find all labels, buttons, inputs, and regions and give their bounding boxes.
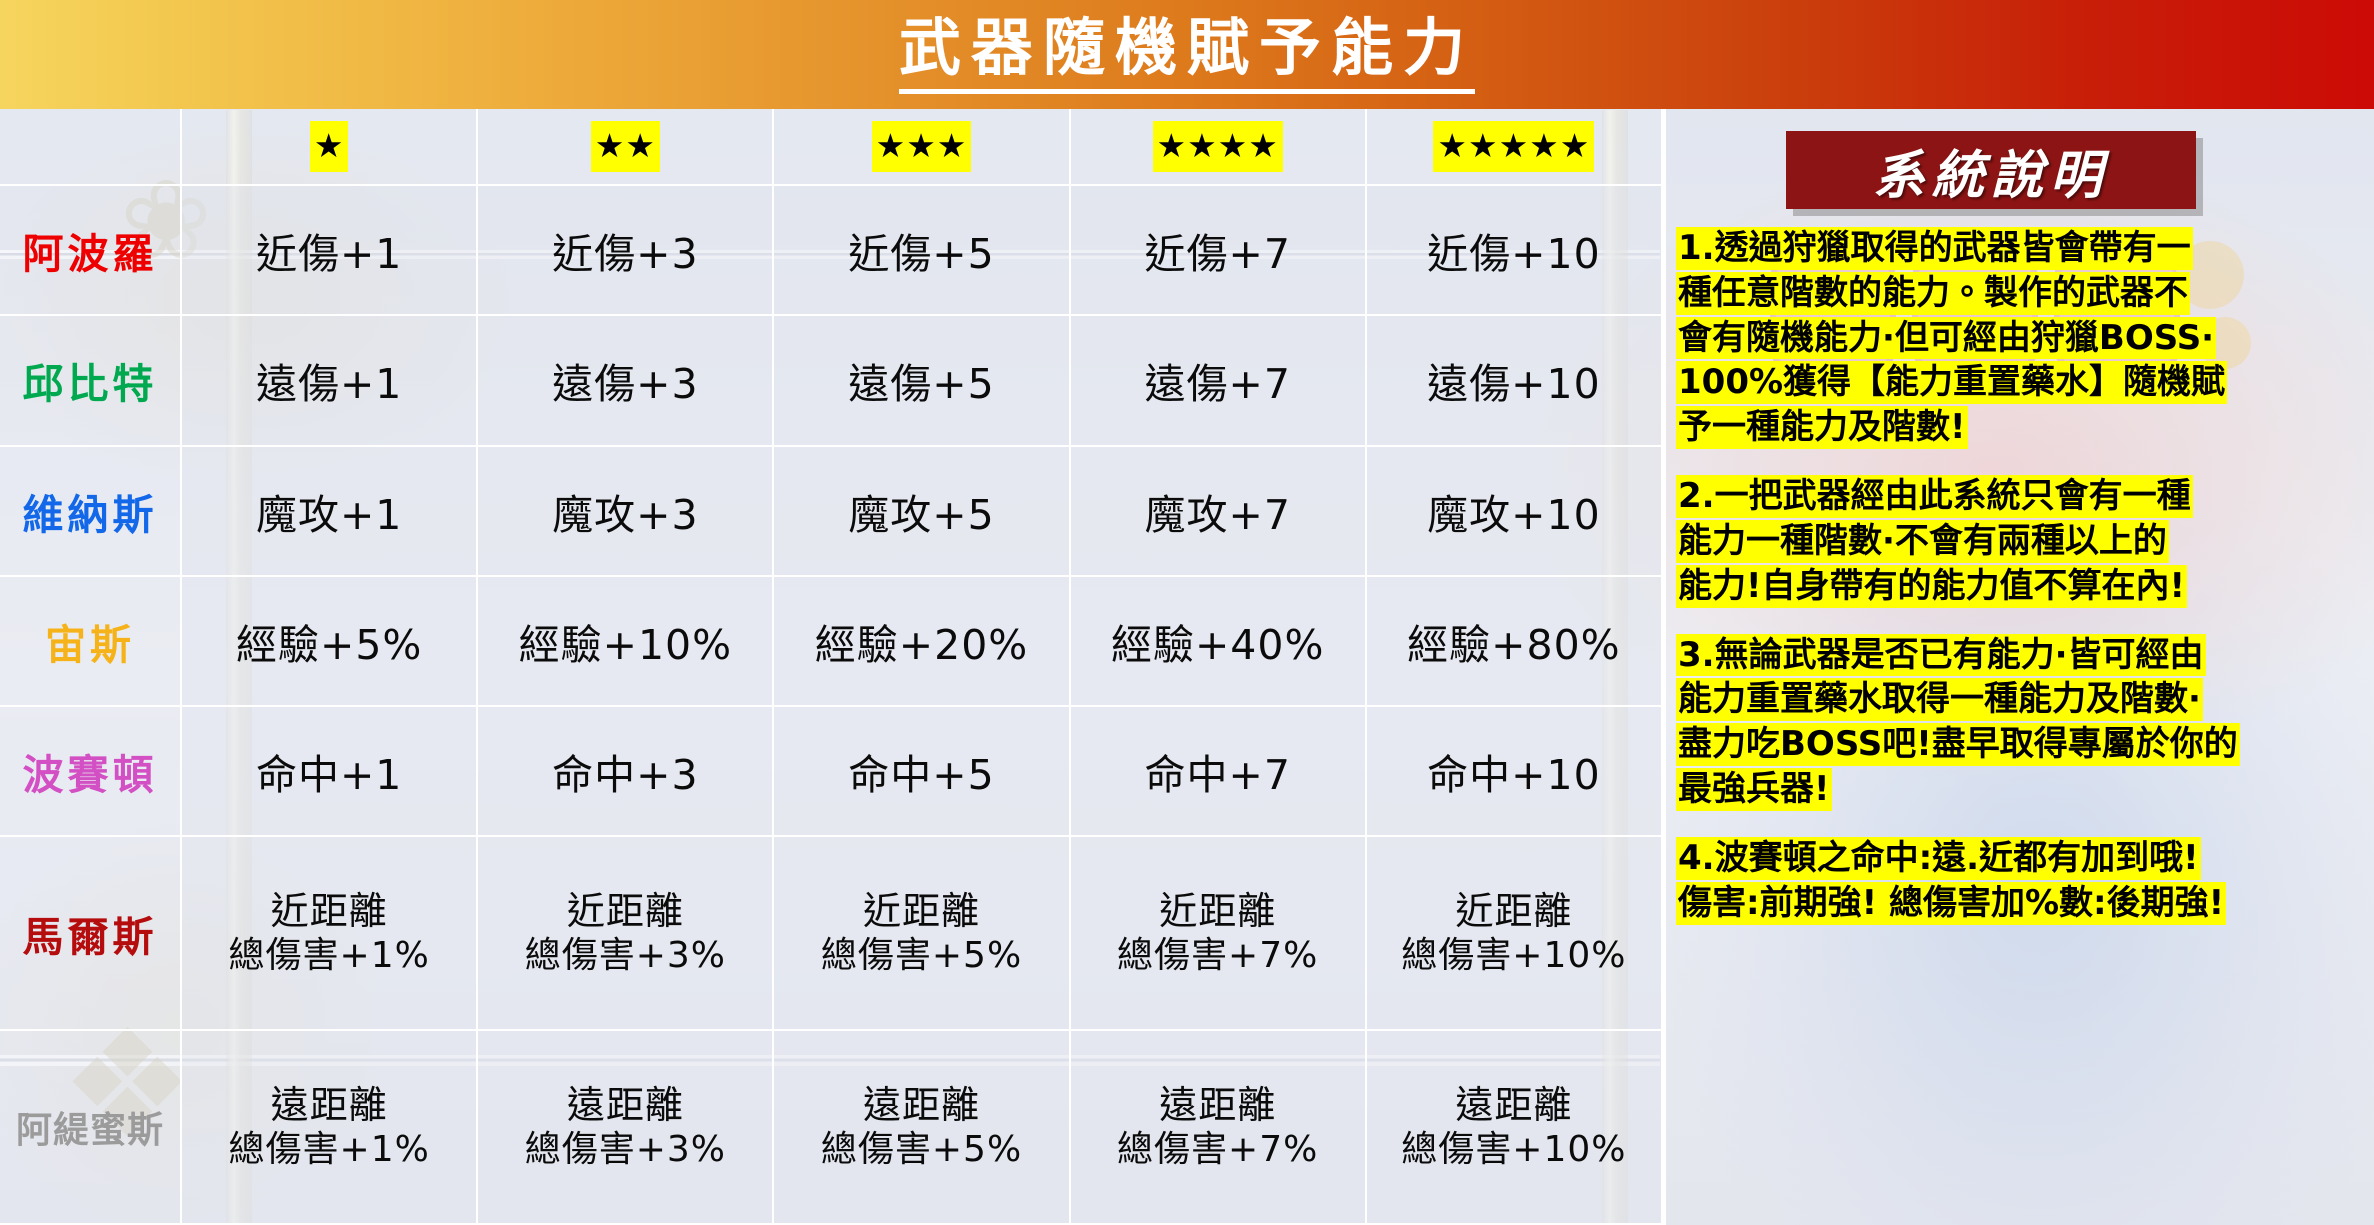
ability-table: ★ ★★ ★★★ ★★★★ ★★★★★	[0, 109, 1663, 1225]
row-label-artemis: 阿緹蜜斯	[0, 1030, 181, 1224]
cell-apollo-3star: 近傷+5	[773, 185, 1069, 315]
cell-venus-3star: 魔攻+5	[773, 446, 1069, 576]
star-rating-3: ★★★	[872, 121, 972, 172]
note-line: 能力一種階數·不會有兩種以上的	[1676, 520, 2169, 563]
page-title: 武器隨機賦予能力	[899, 15, 1475, 93]
row-label-apollo: 阿波羅	[0, 185, 181, 315]
cell-value-line2: 總傷害+10%	[1367, 934, 1661, 978]
note-line: 4.波賽頓之命中:遠.近都有加到哦!	[1676, 837, 2201, 880]
cell-artemis-3star: 遠距離總傷害+5%	[773, 1030, 1069, 1224]
cell-value-line2: 總傷害+7%	[1071, 1128, 1365, 1172]
cell-zeus-5star: 經驗+80%	[1366, 576, 1662, 706]
table-row: 波賽頓 命中+1 命中+3 命中+5 命中+7 命中+10	[0, 706, 1662, 836]
row-label-text: 維納斯	[23, 491, 158, 539]
note-item-2: 2.一把武器經由此系統只會有一種 能力一種階數·不會有兩種以上的 能力!自身帶有…	[1676, 475, 2368, 607]
cell-apollo-1star: 近傷+1	[181, 185, 477, 315]
row-label-text: 馬爾斯	[23, 913, 158, 961]
row-label-zeus: 宙斯	[0, 576, 181, 706]
cell-apollo-4star: 近傷+7	[1070, 185, 1366, 315]
cell-apollo-2star: 近傷+3	[477, 185, 773, 315]
cell-poseidon-4star: 命中+7	[1070, 706, 1366, 836]
cell-value: 經驗+40%	[1111, 621, 1324, 669]
cell-value: 遠傷+10	[1427, 360, 1601, 408]
column-header-3-star: ★★★	[773, 109, 1069, 185]
note-line: 2.一把武器經由此系統只會有一種	[1676, 475, 2193, 518]
cell-value: 近距離總傷害+3%	[478, 888, 772, 978]
cell-mars-2star: 近距離總傷害+3%	[477, 836, 773, 1030]
note-item-3: 3.無論武器是否已有能力·皆可經由 能力重置藥水取得一種能力及階數· 盡力吃BO…	[1676, 634, 2368, 811]
cell-value-line1: 遠距離	[1159, 1083, 1276, 1127]
table-header-row: ★ ★★ ★★★ ★★★★ ★★★★★	[0, 109, 1662, 185]
cell-value: 魔攻+3	[552, 491, 698, 539]
note-line: 會有隨機能力·但可經由狩獵BOSS·	[1676, 317, 2216, 360]
row-label-cupid: 邱比特	[0, 315, 181, 445]
cell-cupid-5star: 遠傷+10	[1366, 315, 1662, 445]
cell-mars-5star: 近距離總傷害+10%	[1366, 836, 1662, 1030]
cell-venus-1star: 魔攻+1	[181, 446, 477, 576]
table-row: 阿波羅 近傷+1 近傷+3 近傷+5 近傷+7 近傷+10	[0, 185, 1662, 315]
star-rating-2: ★★	[591, 121, 660, 172]
cell-value-line2: 總傷害+3%	[478, 934, 772, 978]
cell-mars-3star: 近距離總傷害+5%	[773, 836, 1069, 1030]
cell-value-line1: 近距離	[863, 889, 980, 933]
cell-value: 近距離總傷害+10%	[1367, 888, 1661, 978]
system-description-notes: 1.透過狩獵取得的武器皆會帶有一 種任意階數的能力。製作的武器不 會有隨機能力·…	[1676, 227, 2368, 927]
cell-value: 命中+1	[256, 751, 402, 799]
note-line: 3.無論武器是否已有能力·皆可經由	[1676, 634, 2206, 677]
cell-value: 近傷+5	[848, 230, 994, 278]
table-row: 阿緹蜜斯 遠距離總傷害+1% 遠距離總傷害+3% 遠距離總傷害+5% 遠距離總傷…	[0, 1030, 1662, 1224]
cell-value-line2: 總傷害+7%	[1071, 934, 1365, 978]
row-label-venus: 維納斯	[0, 446, 181, 576]
star-rating-4: ★★★★	[1153, 121, 1283, 172]
cell-poseidon-3star: 命中+5	[773, 706, 1069, 836]
cell-value: 命中+3	[552, 751, 698, 799]
star-rating-1: ★	[310, 121, 349, 172]
cell-mars-1star: 近距離總傷害+1%	[181, 836, 477, 1030]
column-header-5-star: ★★★★★	[1366, 109, 1662, 185]
page-root: ❖ ❀ 武器隨機賦予能力	[0, 0, 2374, 1225]
cell-value: 近距離總傷害+5%	[774, 888, 1068, 978]
cell-value: 遠距離總傷害+7%	[1071, 1082, 1365, 1172]
cell-value-line2: 總傷害+10%	[1367, 1128, 1661, 1172]
cell-value: 近傷+1	[256, 230, 402, 278]
row-label-text: 阿緹蜜斯	[16, 1110, 164, 1151]
cell-venus-4star: 魔攻+7	[1070, 446, 1366, 576]
note-item-1: 1.透過狩獵取得的武器皆會帶有一 種任意階數的能力。製作的武器不 會有隨機能力·…	[1676, 227, 2368, 449]
cell-artemis-1star: 遠距離總傷害+1%	[181, 1030, 477, 1224]
cell-value-line1: 遠距離	[271, 1083, 388, 1127]
row-label-poseidon: 波賽頓	[0, 706, 181, 836]
cell-value-line2: 總傷害+5%	[774, 934, 1068, 978]
cell-value: 命中+7	[1144, 751, 1290, 799]
cell-cupid-2star: 遠傷+3	[477, 315, 773, 445]
cell-value: 魔攻+5	[848, 491, 994, 539]
cell-zeus-2star: 經驗+10%	[477, 576, 773, 706]
note-line: 最強兵器!	[1676, 768, 1832, 811]
cell-value: 遠傷+5	[848, 360, 994, 408]
cell-venus-5star: 魔攻+10	[1366, 446, 1662, 576]
cell-value-line1: 近距離	[567, 889, 684, 933]
cell-value: 近傷+10	[1427, 230, 1601, 278]
cell-value-line2: 總傷害+5%	[774, 1128, 1068, 1172]
cell-value: 近傷+7	[1144, 230, 1290, 278]
cell-value: 魔攻+10	[1427, 491, 1601, 539]
cell-value: 近距離總傷害+7%	[1071, 888, 1365, 978]
cell-value-line1: 近距離	[1159, 889, 1276, 933]
cell-value: 遠距離總傷害+3%	[478, 1082, 772, 1172]
cell-value-line1: 遠距離	[863, 1083, 980, 1127]
cell-value: 經驗+80%	[1407, 621, 1620, 669]
table-row: 維納斯 魔攻+1 魔攻+3 魔攻+5 魔攻+7 魔攻+10	[0, 446, 1662, 576]
cell-poseidon-2star: 命中+3	[477, 706, 773, 836]
title-bar: 武器隨機賦予能力	[0, 0, 2374, 109]
note-line: 1.透過狩獵取得的武器皆會帶有一	[1676, 227, 2193, 270]
system-description-banner: 系統說明	[1786, 131, 2196, 209]
column-header-4-star: ★★★★	[1070, 109, 1366, 185]
row-label-text: 阿波羅	[23, 230, 158, 278]
cell-value: 命中+5	[848, 751, 994, 799]
cell-zeus-4star: 經驗+40%	[1070, 576, 1366, 706]
system-description-title: 系統說明	[1873, 133, 2109, 208]
cell-cupid-4star: 遠傷+7	[1070, 315, 1366, 445]
cell-value: 經驗+10%	[519, 621, 732, 669]
cell-value: 經驗+20%	[815, 621, 1028, 669]
cell-artemis-5star: 遠距離總傷害+10%	[1366, 1030, 1662, 1224]
cell-value: 遠傷+3	[552, 360, 698, 408]
row-label-text: 宙斯	[45, 621, 135, 669]
cell-apollo-5star: 近傷+10	[1366, 185, 1662, 315]
note-line: 種任意階數的能力。製作的武器不	[1676, 272, 2190, 315]
cell-zeus-1star: 經驗+5%	[181, 576, 477, 706]
cell-value: 遠距離總傷害+5%	[774, 1082, 1068, 1172]
cell-poseidon-5star: 命中+10	[1366, 706, 1662, 836]
cell-value: 經驗+5%	[236, 621, 422, 669]
cell-value: 近距離總傷害+1%	[182, 888, 476, 978]
ability-table-wrapper: ★ ★★ ★★★ ★★★★ ★★★★★	[0, 109, 1663, 1225]
cell-value: 近傷+3	[552, 230, 698, 278]
table-row: 馬爾斯 近距離總傷害+1% 近距離總傷害+3% 近距離總傷害+5% 近距離總傷害…	[0, 836, 1662, 1030]
column-header-1-star: ★	[181, 109, 477, 185]
cell-artemis-4star: 遠距離總傷害+7%	[1070, 1030, 1366, 1224]
note-line: 能力!自身帶有的能力值不算在內!	[1676, 565, 2187, 608]
cell-cupid-3star: 遠傷+5	[773, 315, 1069, 445]
cell-value: 命中+10	[1427, 751, 1601, 799]
table-row: 宙斯 經驗+5% 經驗+10% 經驗+20% 經驗+40% 經驗+80%	[0, 576, 1662, 706]
row-label-text: 邱比特	[23, 360, 158, 408]
star-rating-5: ★★★★★	[1433, 121, 1594, 172]
main-content: ★ ★★ ★★★ ★★★★ ★★★★★	[0, 109, 2374, 1225]
cell-value: 魔攻+1	[256, 491, 402, 539]
note-line: 100%獲得【能力重置藥水】隨機賦	[1676, 361, 2227, 404]
system-description-panel: 系統說明 1.透過狩獵取得的武器皆會帶有一 種任意階數的能力。製作的武器不 會有…	[1663, 109, 2374, 1225]
cell-value-line2: 總傷害+1%	[182, 1128, 476, 1172]
table-row: 邱比特 遠傷+1 遠傷+3 遠傷+5 遠傷+7 遠傷+10	[0, 315, 1662, 445]
table-corner-cell	[0, 109, 181, 185]
cell-poseidon-1star: 命中+1	[181, 706, 477, 836]
cell-value-line1: 近距離	[1455, 889, 1572, 933]
cell-value: 魔攻+7	[1144, 491, 1290, 539]
row-label-mars: 馬爾斯	[0, 836, 181, 1030]
cell-cupid-1star: 遠傷+1	[181, 315, 477, 445]
cell-value-line1: 遠距離	[1455, 1083, 1572, 1127]
cell-mars-4star: 近距離總傷害+7%	[1070, 836, 1366, 1030]
cell-value-line1: 遠距離	[567, 1083, 684, 1127]
column-header-2-star: ★★	[477, 109, 773, 185]
cell-zeus-3star: 經驗+20%	[773, 576, 1069, 706]
cell-venus-2star: 魔攻+3	[477, 446, 773, 576]
cell-value: 遠傷+1	[256, 360, 402, 408]
cell-value: 遠傷+7	[1144, 360, 1290, 408]
cell-value-line2: 總傷害+3%	[478, 1128, 772, 1172]
cell-value-line2: 總傷害+1%	[182, 934, 476, 978]
note-line: 傷害:前期強! 總傷害加%數:後期強!	[1676, 882, 2226, 925]
note-item-4: 4.波賽頓之命中:遠.近都有加到哦! 傷害:前期強! 總傷害加%數:後期強!	[1676, 837, 2368, 925]
cell-value: 遠距離總傷害+10%	[1367, 1082, 1661, 1172]
cell-value-line1: 近距離	[271, 889, 388, 933]
note-line: 予一種能力及階數!	[1676, 406, 1968, 449]
cell-artemis-2star: 遠距離總傷害+3%	[477, 1030, 773, 1224]
note-line: 能力重置藥水取得一種能力及階數·	[1676, 678, 2203, 721]
row-label-text: 波賽頓	[23, 751, 158, 799]
note-line: 盡力吃BOSS吧!盡早取得專屬於你的	[1676, 723, 2240, 766]
cell-value: 遠距離總傷害+1%	[182, 1082, 476, 1172]
